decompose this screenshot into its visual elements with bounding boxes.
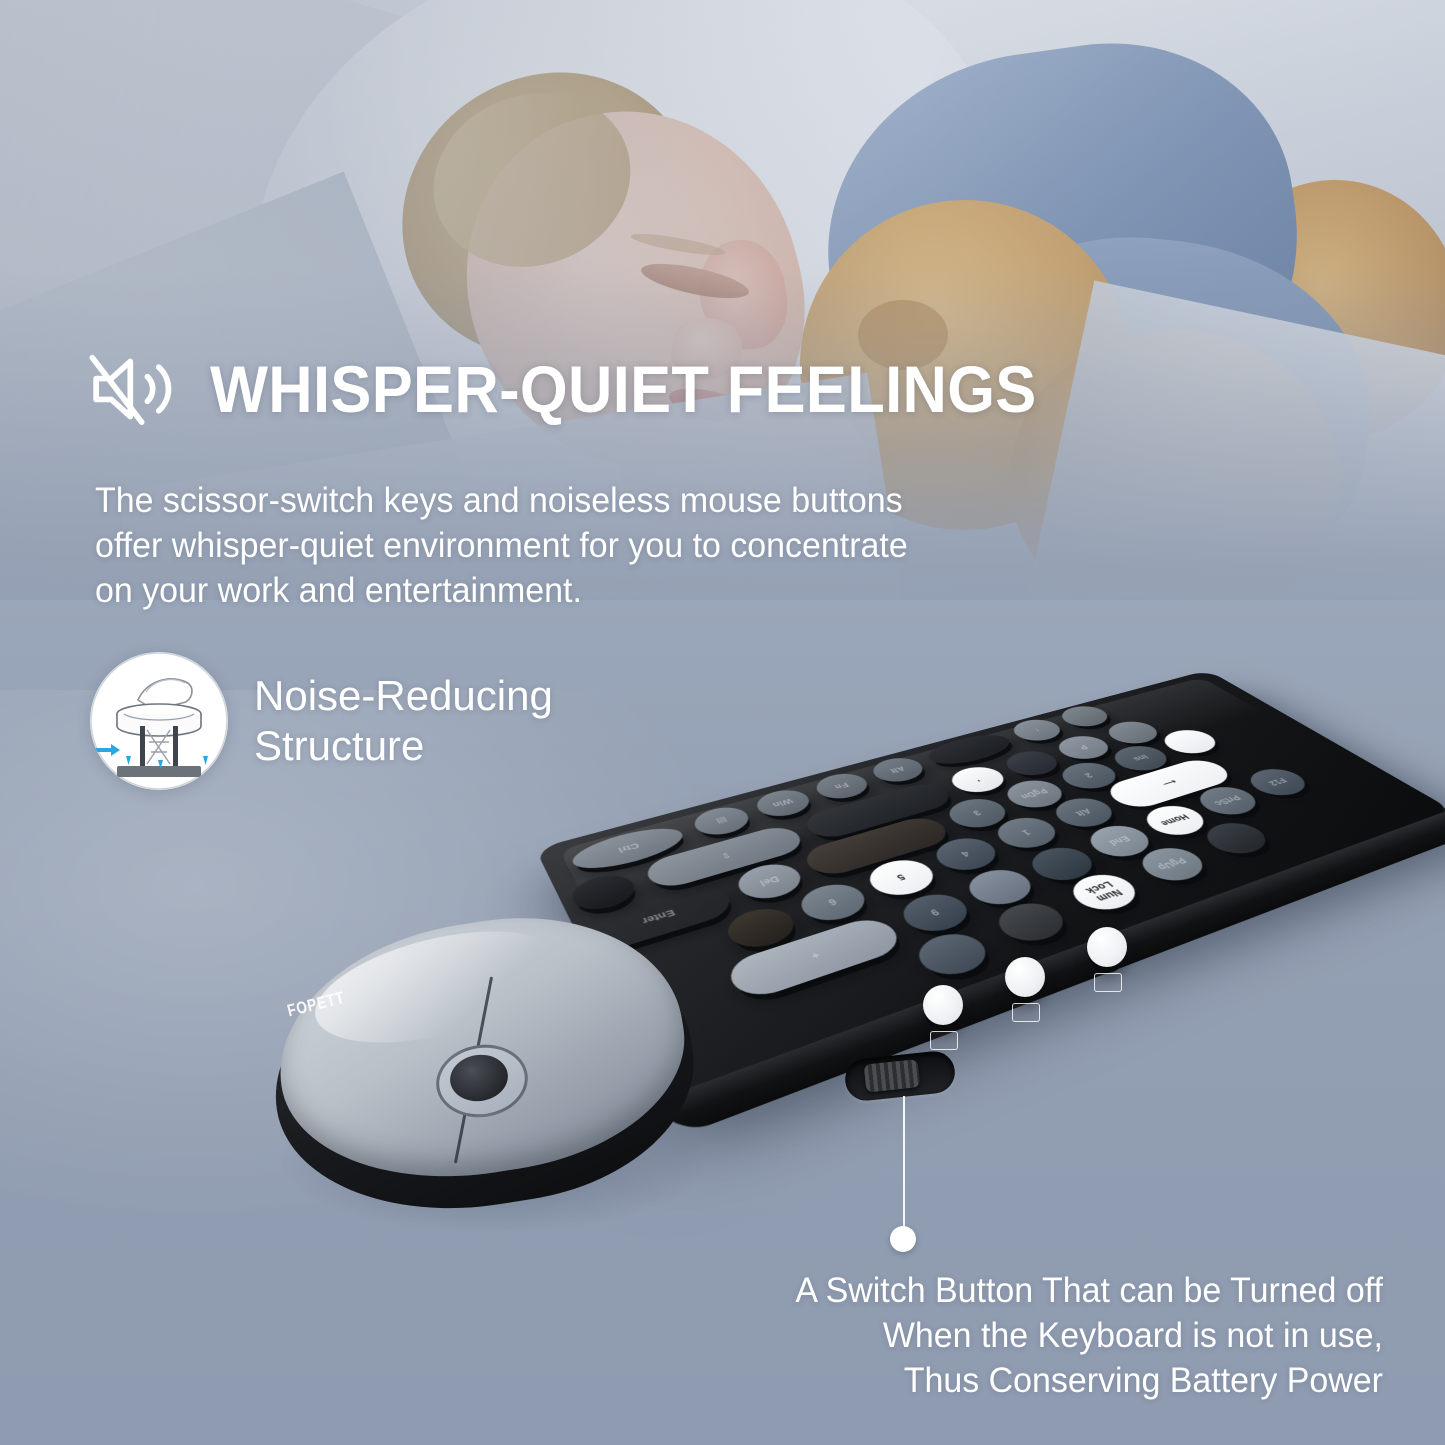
keycap-7[interactable] <box>1021 842 1103 886</box>
keycap-del[interactable]: Del <box>730 859 810 905</box>
keycap-p[interactable]: P <box>1050 732 1118 763</box>
body-copy-line-2: offer whisper-quiet environment for you … <box>95 523 1094 568</box>
keycap-8[interactable] <box>959 864 1042 911</box>
keycap-9[interactable]: 9 <box>893 888 978 938</box>
keycap-arrow-up[interactable]: ↑ <box>1005 716 1068 745</box>
keycap-semicolon[interactable] <box>998 747 1067 780</box>
keycap-bracket[interactable] <box>1100 718 1167 748</box>
keycap-plus[interactable]: + <box>721 913 908 1002</box>
keycap-white-key[interactable] <box>1155 726 1226 758</box>
callout-text: A Switch Button That can be Turned off W… <box>685 1268 1383 1403</box>
noise-reducing-structure-badge <box>90 652 228 790</box>
keycap-cross-section-icon <box>90 652 228 790</box>
keycap-numlock[interactable]: NumLock <box>1062 869 1147 916</box>
scroll-lock-led-icon <box>1094 973 1122 992</box>
keycap-home[interactable]: Home <box>1136 801 1215 841</box>
num-lock-led-button[interactable] <box>923 985 963 1025</box>
callout-leader-line <box>903 1096 905 1232</box>
power-switch-knob[interactable] <box>864 1059 921 1092</box>
feature-label-line-1: Noise-Reducing <box>254 671 553 721</box>
scroll-lock-led-button[interactable] <box>1087 927 1127 967</box>
callout-line-3: Thus Conserving Battery Power <box>685 1358 1383 1403</box>
keycap-arrow-left[interactable] <box>1054 703 1116 730</box>
keycap-pgup[interactable]: PgUp <box>1131 842 1214 886</box>
callout-line-1: A Switch Button That can be Turned off <box>685 1268 1383 1313</box>
keycap-6[interactable]: 6 <box>792 878 874 927</box>
feature-badge-label: Noise-Reducing Structure <box>254 671 553 771</box>
feature-badge: Noise-Reducing Structure <box>90 652 553 790</box>
body-copy-line-1: The scissor-switch keys and noiseless mo… <box>95 478 1094 523</box>
wireless-mouse: FOPETT <box>268 905 708 1225</box>
page-title: WHISPER-QUIET FEELINGS <box>210 356 1037 422</box>
feature-label-line-2: Structure <box>254 721 553 771</box>
keycap-alt[interactable]: Alt <box>865 754 930 786</box>
keycap-ctrl[interactable]: Ctrl <box>566 821 690 876</box>
keycap-front-2[interactable] <box>1196 818 1278 859</box>
caps-lock-led-button[interactable] <box>1005 957 1045 997</box>
keycap-5[interactable]: 5 <box>860 854 944 901</box>
callout-line-2: When the Keyboard is not in use, <box>685 1313 1383 1358</box>
num-lock-led-icon <box>930 1031 958 1050</box>
keycap-quote[interactable]: ' <box>943 763 1013 797</box>
headline-row: WHISPER-QUIET FEELINGS <box>88 352 1099 426</box>
keycap-star[interactable] <box>719 902 803 954</box>
keycap-end[interactable]: End <box>1080 820 1160 862</box>
keycap-front-1[interactable] <box>988 897 1075 948</box>
mute-speaker-icon <box>88 352 184 426</box>
callout-leader-dot <box>890 1226 916 1252</box>
product-feature-banner: WHISPER-QUIET FEELINGS The scissor-switc… <box>0 0 1445 1445</box>
caps-lock-led-icon <box>1012 1003 1040 1022</box>
keycap-dot[interactable] <box>908 927 997 982</box>
wireless-keyboard: Ctrl ▤ Win Fn Alt ↑ ⇧ ' P Enter Del <box>585 565 1445 1125</box>
